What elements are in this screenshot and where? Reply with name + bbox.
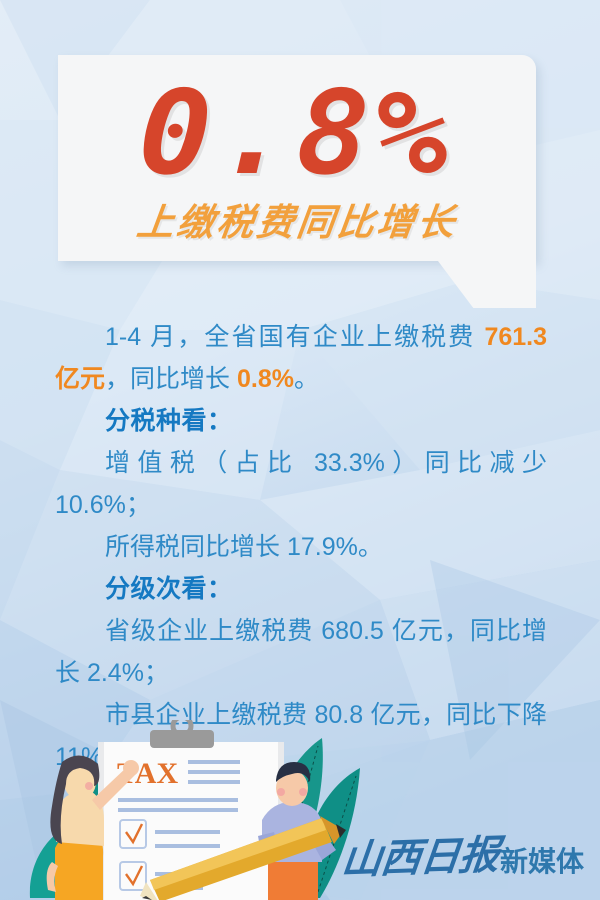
section2-line-provincial: 省级企业上缴税费 680.5 亿元，同比增长 2.4%； <box>55 610 547 694</box>
summary-text-c: 。 <box>294 365 319 393</box>
summary-text-a: 1-4 月，全省国有企业上缴税费 <box>105 323 484 351</box>
publisher-logo: 山西日报 新媒体 <box>342 838 584 878</box>
section-title-by-level: 分级次看： <box>55 568 547 610</box>
hero-subtitle: 上缴税费同比增长 <box>135 204 460 241</box>
logo-suffix: 新媒体 <box>500 848 584 876</box>
body-copy: 1-4 月，全省国有企业上缴税费 761.3 亿元，同比增长 0.8%。 分税种… <box>55 316 547 778</box>
section-title-by-tax-type: 分税种看： <box>55 400 547 442</box>
woman-cheek <box>85 782 93 790</box>
summary-text-b: ，同比增长 <box>105 365 237 393</box>
man-pants <box>268 860 318 900</box>
paragraph-summary: 1-4 月，全省国有企业上缴税费 761.3 亿元，同比增长 0.8%。 <box>55 316 547 400</box>
woman-hand <box>123 760 139 776</box>
section1-line-vat: 增值税（占比 33.3%）同比减少 10.6%； <box>55 442 547 526</box>
hero-content: 0.8% 上缴税费同比增长 <box>58 55 536 261</box>
clipboard-ring <box>173 720 191 735</box>
summary-growth-rate: 0.8% <box>237 365 294 393</box>
hero-percent-value: 0.8% <box>137 76 457 192</box>
section1-line-income-tax: 所得税同比增长 17.9%。 <box>55 526 547 568</box>
man-cheek <box>299 788 307 796</box>
man-cheek <box>277 788 285 796</box>
logo-brand: 山西日报 <box>340 835 501 880</box>
